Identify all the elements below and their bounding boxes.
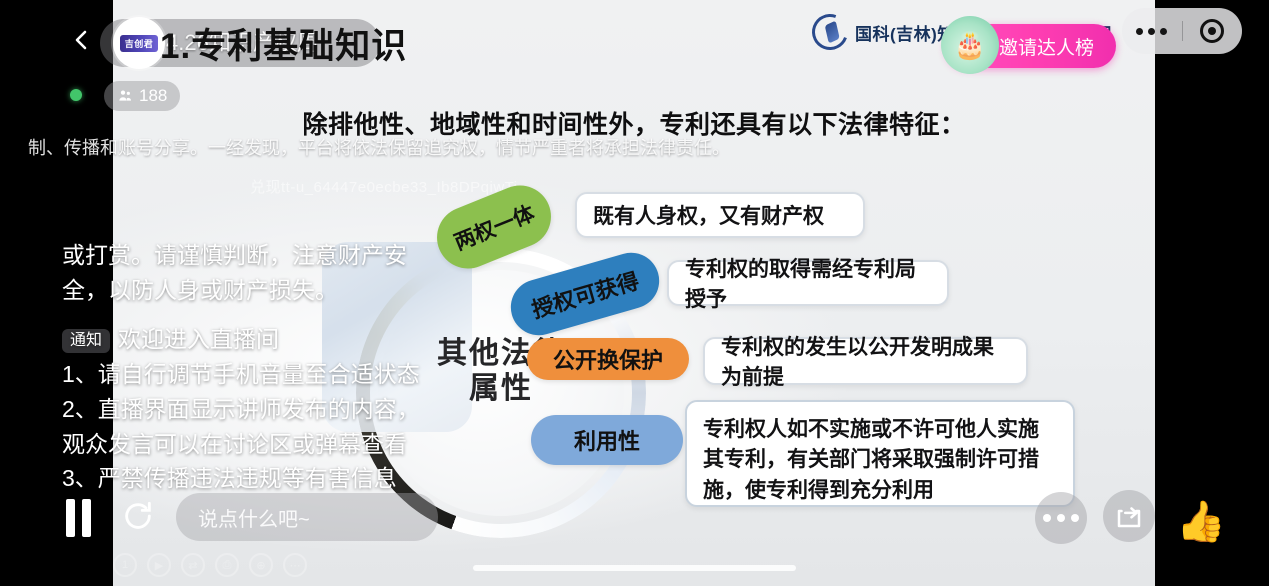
record-target-icon: [1200, 19, 1224, 43]
bdot-1: [1043, 514, 1051, 522]
slide-textbox-2: 专利权的发生以公开发明成果为前提: [703, 337, 1028, 385]
record-button[interactable]: [1183, 19, 1243, 43]
player-icon-0[interactable]: 1: [113, 553, 137, 577]
invite-leaderboard-label: 邀请达人榜: [999, 33, 1094, 60]
cake-icon: 🎂: [941, 16, 999, 74]
avatar[interactable]: 吉创君: [113, 17, 165, 69]
chat-rule-2b: 观众发言可以在讨论区或弹幕查看: [62, 429, 462, 461]
topright-capsule: [1122, 8, 1242, 54]
bdot-3: [1071, 514, 1079, 522]
player-icon-1[interactable]: ▶: [147, 553, 171, 577]
chat-rule-1: 1、请自行调节手机音量至合适状态: [62, 359, 462, 391]
bdot-2: [1057, 514, 1065, 522]
avatar-logo: 吉创君: [120, 35, 158, 52]
pause-button[interactable]: [66, 498, 98, 538]
invite-leaderboard-button[interactable]: 🎂 邀请达人榜: [945, 24, 1116, 68]
chat-messages[interactable]: 或打赏。请谨慎判断，注意财产安 全，以防人身或财产损失。 通知欢迎进入直播间 1…: [62, 240, 462, 495]
viewer-count-badge[interactable]: 188: [104, 81, 180, 111]
chat-rule-2: 2、直播界面显示讲师发布的内容，: [62, 394, 462, 426]
share-icon: [1114, 501, 1144, 531]
viewer-count-value: 188: [139, 86, 167, 106]
chat-notice: 通知欢迎进入直播间: [62, 324, 462, 356]
comment-input[interactable]: 说点什么吧~: [176, 493, 438, 541]
player-icon-3[interactable]: ⎙: [215, 553, 239, 577]
chat-spacer: [62, 309, 462, 321]
dot-3: [1160, 28, 1167, 35]
slide-pill-3: 利用性: [531, 415, 683, 465]
player-icon-2[interactable]: ⇄: [181, 553, 205, 577]
pause-bar-left: [66, 499, 75, 537]
slide-watermark: 兑现tt-u_64447e0ecbe33_Ib8DPqiwTi: [250, 176, 518, 197]
more-options-button[interactable]: [1122, 28, 1182, 35]
home-indicator: [473, 565, 796, 571]
back-button[interactable]: [62, 20, 102, 60]
refresh-icon: [121, 499, 155, 533]
chat-warning-line2: 全，以防人身或财产损失。: [62, 275, 462, 307]
record-dot: [1208, 27, 1216, 35]
live-status-dot: [70, 89, 82, 101]
dot-1: [1136, 28, 1143, 35]
notice-badge: 通知: [62, 329, 110, 353]
scrolling-notice: 制、传播和账号分享。一经发现，平台将依法保留追究权，情节严重者将承担法律责任。: [0, 131, 1269, 163]
company-logo-icon: [806, 8, 854, 56]
back-arrow-icon: [70, 28, 94, 52]
chat-rule-3: 3、严禁传播违法违规等有害信息: [62, 463, 462, 495]
slide-textbox-0: 既有人身权，又有财产权: [575, 192, 865, 238]
thumbs-up-icon: 👍: [1176, 498, 1226, 545]
slide-textbox-1: 专利权的取得需经专利局授予: [667, 260, 949, 306]
player-icon-4[interactable]: ⊕: [249, 553, 273, 577]
player-icon-5[interactable]: ⋯: [283, 553, 307, 577]
player-toolbar[interactable]: 1 ▶ ⇄ ⎙ ⊕ ⋯: [113, 553, 307, 577]
people-icon: [117, 88, 133, 104]
scrolling-notice-text: 制、传播和账号分享。一经发现，平台将依法保留追究权，情节严重者将承担法律责任。: [28, 134, 730, 160]
livestream-screen: 除排他性、地域性和时间性外，专利还具有以下法律特征： 兑现tt-u_64447e…: [0, 0, 1269, 586]
slide-textbox-3: 专利权人如不实施或不许可他人实施其专利，有关部门将采取强制许可措施，使专利得到充…: [685, 400, 1075, 507]
share-button[interactable]: [1103, 490, 1155, 542]
bottom-more-button[interactable]: [1035, 492, 1087, 544]
comment-placeholder: 说点什么吧~: [198, 503, 310, 532]
dot-2: [1148, 28, 1155, 35]
more-dots-icon: [1043, 514, 1079, 522]
slide-pill-2: 公开换保护: [527, 338, 689, 380]
chat-warning-line1: 或打赏。请谨慎判断，注意财产安: [62, 240, 462, 272]
like-button[interactable]: 👍: [1175, 495, 1227, 547]
refresh-button[interactable]: [118, 496, 158, 536]
page-title: 1.专利基础知识: [160, 18, 407, 69]
pause-bar-right: [82, 499, 91, 537]
notice-text: 欢迎进入直播间: [118, 326, 279, 352]
